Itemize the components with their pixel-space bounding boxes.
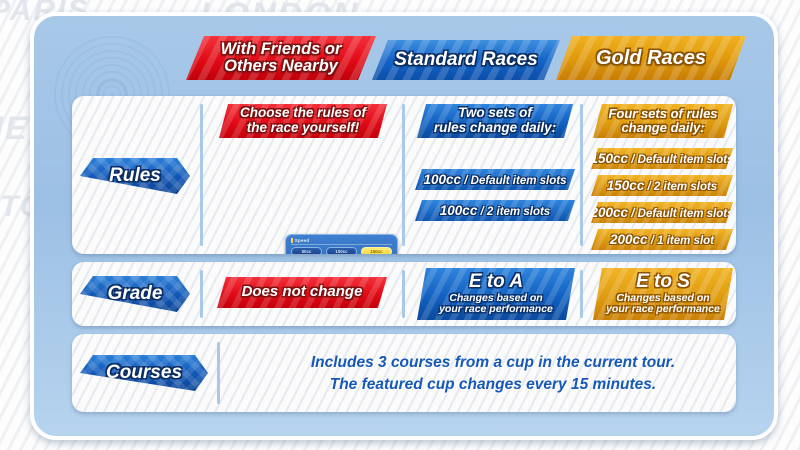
rules-standard-chip-rest: 2 item slots [487,206,550,218]
settings-option-50cc[interactable]: 50cc [291,247,322,255]
settings-option-100cc[interactable]: 100cc [326,247,357,255]
rules-standard-chip-cc: 100cc [424,172,462,187]
rules-gold-chip: 150cc / Default item slots [591,148,733,169]
rules-gold-chip-sep: / [628,208,638,220]
grade-standard-chip: E to A Changes based on your race perfor… [417,268,575,320]
rules-friends-heading-line1: Choose the rules of [240,106,366,121]
banner-with-friends-line2: Others Nearby [221,58,342,75]
rules-gold-chip-rest: Default item slots [638,208,734,220]
grade-gold-range: E to S [606,272,720,293]
rules-row-card: Rules Choose the rules of the race yours… [72,96,736,254]
courses-row-card: Courses Includes 3 courses from a cup in… [72,334,736,412]
column-divider [200,270,203,318]
banner-with-friends-line1: With Friends or [221,41,342,58]
row-label-grade: Grade [80,276,190,312]
column-divider [217,342,220,404]
rules-gold-chip: 200cc / 1 item slot [591,229,733,250]
info-panel: With Friends or Others Nearby Standard R… [30,12,778,440]
grade-friends-text: Does not change [242,284,363,300]
mode-banner-row: With Friends or Others Nearby Standard R… [34,36,774,88]
rules-gold-chip-rest: Default item slots [638,154,734,166]
rules-standard-heading-line2: rules change daily: [434,121,556,136]
race-settings-mockup[interactable]: Speed 50cc 100cc 150cc Item Slots Defaul… [285,234,398,254]
courses-description: Includes 3 courses from a cup in the cur… [258,352,728,396]
rules-gold-heading-line2: change daily: [608,121,717,135]
grade-gold-sub2: your race performance [606,304,720,315]
rules-standard-chip-sep: / [477,206,487,218]
grade-gold-chip: E to S Changes based on your race perfor… [593,268,733,320]
rules-gold-chip: 150cc / 2 item slots [591,175,733,196]
courses-line1: Includes 3 courses from a cup in the cur… [258,352,728,374]
row-label-rules-text: Rules [109,165,161,187]
row-label-courses: Courses [80,355,208,391]
rules-gold-chip-sep: / [648,235,658,247]
grade-standard-range: E to A [439,272,553,293]
settings-group-speed: Speed 50cc 100cc 150cc [291,238,392,254]
banner-standard-races: Standard Races [372,40,560,80]
rules-gold-chip-cc: 200cc [610,232,648,247]
rules-gold-heading-line1: Four sets of rules [608,107,717,121]
column-divider [580,104,583,246]
banner-gold-races: Gold Races [556,36,746,80]
grade-friends-chip: Does not change [217,277,387,308]
row-label-rules: Rules [80,158,190,194]
column-divider [580,270,583,318]
row-label-grade-text: Grade [108,283,163,305]
settings-group-speed-options: 50cc 100cc 150cc [291,247,392,255]
rules-gold-heading: Four sets of rules change daily: [593,104,733,138]
rules-standard-chip: 100cc / Default item slots [415,169,575,190]
rules-gold-chip-sep: / [628,154,638,166]
rules-gold-chip-sep: / [644,181,654,193]
column-divider [200,104,203,246]
rules-standard-heading-line1: Two sets of [434,106,556,121]
settings-group-speed-label: Speed [291,238,392,245]
grade-row-card: Grade Does not change E to A Changes bas… [72,262,736,326]
rules-standard-heading: Two sets of rules change daily: [417,104,573,138]
rules-gold-chip-rest: 1 item slot [657,235,714,247]
rules-standard-chip-cc: 100cc [440,203,478,218]
rules-friends-heading: Choose the rules of the race yourself! [219,104,387,138]
courses-line2: The featured cup changes every 15 minute… [258,374,728,396]
column-divider [402,104,405,246]
settings-option-150cc[interactable]: 150cc [361,247,392,255]
banner-gold-races-label: Gold Races [596,48,706,69]
banner-with-friends: With Friends or Others Nearby [186,36,376,80]
rules-gold-chip-cc: 150cc [591,151,629,166]
rules-standard-chip-sep: / [461,175,471,187]
row-label-courses-text: Courses [106,362,182,384]
column-divider [402,270,405,318]
rules-gold-chip-cc: 200cc [591,205,629,220]
rules-standard-chip-rest: Default item slots [471,175,567,187]
rules-friends-heading-line2: the race yourself! [240,121,366,136]
grade-standard-sub2: your race performance [439,304,553,315]
rules-gold-chip: 200cc / Default item slots [591,202,733,223]
rules-gold-chip-cc: 150cc [607,178,645,193]
rules-gold-chip-rest: 2 item slots [654,181,717,193]
banner-standard-races-label: Standard Races [394,50,538,70]
rules-standard-chip: 100cc / 2 item slots [415,200,575,221]
